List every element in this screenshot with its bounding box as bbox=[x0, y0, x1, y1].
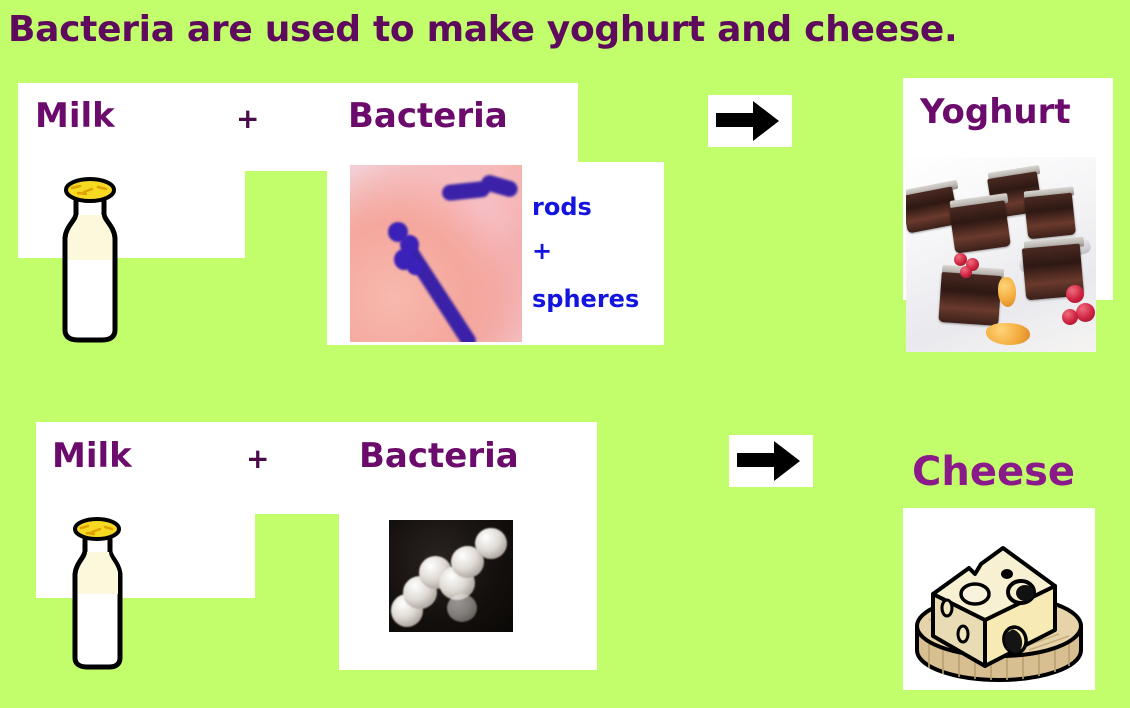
arrow-right-icon-row1 bbox=[708, 95, 792, 147]
bacteria-micrograph-row1 bbox=[350, 165, 522, 342]
slide-canvas: Bacteria are used to make yoghurt and ch… bbox=[0, 0, 1130, 708]
milk-label-row2: Milk bbox=[52, 436, 132, 476]
bacteria-caption-plus-row1: + bbox=[532, 238, 552, 264]
yoghurt-pots-photo bbox=[906, 157, 1096, 352]
milk-bottle-icon-row2 bbox=[64, 510, 130, 670]
plus-sign-row2: + bbox=[246, 444, 269, 474]
bacteria-caption-spheres-row1: spheres bbox=[532, 286, 639, 312]
cheese-label: Cheese bbox=[912, 452, 1075, 492]
plus-sign-row1: + bbox=[236, 104, 259, 134]
milk-bottle-icon-row1 bbox=[52, 168, 126, 343]
page-title: Bacteria are used to make yoghurt and ch… bbox=[8, 4, 1118, 60]
bacteria-label-row1: Bacteria bbox=[348, 96, 508, 136]
bacteria-micrograph-row2 bbox=[389, 520, 513, 632]
arrow-right-icon-row2 bbox=[729, 435, 813, 487]
cheese-illustration bbox=[903, 508, 1095, 690]
bacteria-label-row2: Bacteria bbox=[359, 436, 519, 476]
bacteria-caption-rods-row1: rods bbox=[532, 194, 592, 220]
milk-label-row1: Milk bbox=[35, 96, 115, 136]
yoghurt-label: Yoghurt bbox=[920, 92, 1071, 132]
